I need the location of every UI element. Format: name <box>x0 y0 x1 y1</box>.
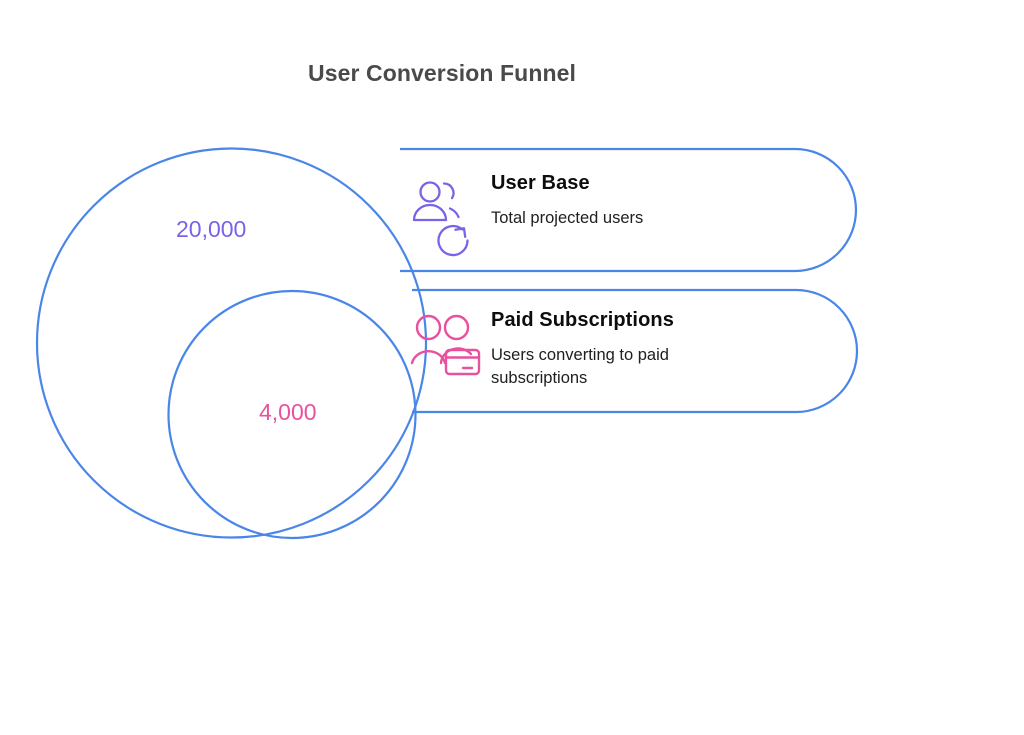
value-label-paid-subscriptions: 4,000 <box>259 399 317 426</box>
funnel-diagram: User Conversion Funnel 20, <box>0 0 1024 735</box>
callout-description-user-base: Total projected users <box>491 207 791 230</box>
callout-paid-subscriptions: Paid Subscriptions Users converting to p… <box>491 309 731 390</box>
callout-title-user-base: User Base <box>491 172 791 195</box>
value-label-user-base: 20,000 <box>176 216 246 243</box>
users-refresh-icon <box>414 183 468 256</box>
callout-title-paid-subscriptions: Paid Subscriptions <box>491 309 731 332</box>
users-credit-card-icon <box>412 316 479 374</box>
callout-description-paid-subscriptions: Users converting to paid subscriptions <box>491 344 731 390</box>
funnel-circle-user-base <box>37 149 426 538</box>
callout-user-base: User Base Total projected users <box>491 172 791 230</box>
